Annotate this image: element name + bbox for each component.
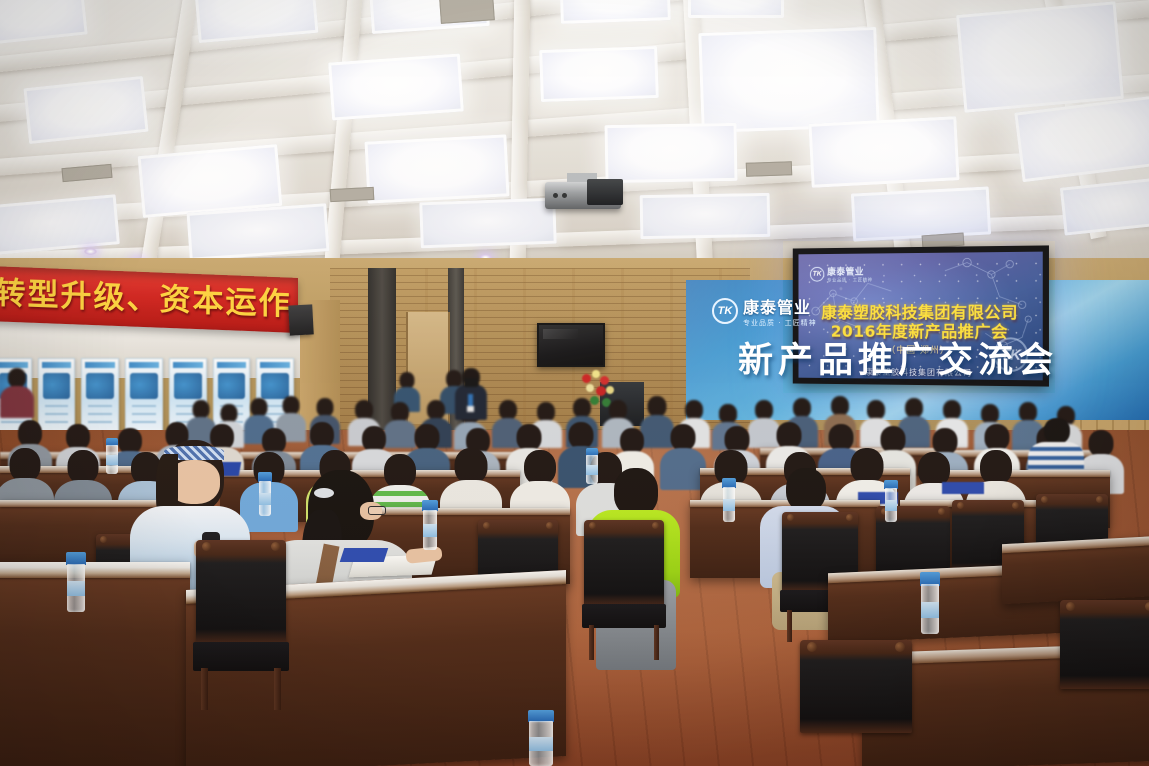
ceiling-light-panel <box>539 46 659 102</box>
tk-logo-icon: TK <box>712 298 738 324</box>
chair[interactable] <box>800 640 912 766</box>
tk-logo-icon: TK <box>810 267 824 282</box>
downlight-icon <box>84 248 97 255</box>
wall-mounted-display <box>537 323 605 367</box>
badge <box>467 406 474 412</box>
water-bottle[interactable] <box>920 572 940 634</box>
foreground-desk-left <box>0 562 190 766</box>
slide-logo-slogan: 专业品质 · 工匠精神 <box>827 277 872 283</box>
air-vent <box>746 161 792 177</box>
ceiling-light-panel <box>0 194 120 255</box>
water-bottle[interactable] <box>722 478 736 522</box>
wall-speaker <box>288 304 314 335</box>
ceiling-projector <box>545 182 621 209</box>
backdrop-logo-slogan: 专业品质 · 工匠精神 <box>743 318 817 328</box>
ceiling-light-panel <box>698 27 879 133</box>
backdrop-headline: 新产品推广交流会 <box>738 332 1138 383</box>
projector-lens <box>553 193 558 198</box>
red-banner-text: 转型升级、资本运作 <box>0 266 298 333</box>
air-vent <box>330 187 375 202</box>
desk-row <box>1002 536 1149 604</box>
ceiling-light-panel <box>328 53 464 120</box>
water-bottle[interactable] <box>66 552 86 612</box>
ceiling-light-panel <box>1014 96 1149 183</box>
ceiling-light-panel <box>605 123 738 183</box>
camera-icon <box>464 378 478 387</box>
chair[interactable] <box>1060 600 1149 720</box>
eyeglasses <box>368 506 386 515</box>
water-bottle[interactable] <box>422 500 438 550</box>
ceiling-light-panel <box>186 203 329 261</box>
hair-clip <box>314 488 334 498</box>
ceiling <box>0 0 1149 272</box>
slide-logo-name: 康泰管业 <box>827 264 872 277</box>
water-bottle[interactable] <box>586 448 598 484</box>
slide-logo: TK 康泰管业 专业品质 · 工匠精神 <box>810 264 873 283</box>
conference-folder <box>340 548 389 562</box>
ceiling-light-panel <box>851 186 991 241</box>
attendee <box>0 368 34 418</box>
slide-title-line1: 康泰塑胶科技集团有限公司 <box>798 303 1042 322</box>
conference-folder <box>942 482 984 494</box>
air-vent <box>61 164 112 182</box>
ceiling-light-panel <box>688 0 784 18</box>
red-slogan-banner: 转型升级、资本运作 <box>0 266 298 333</box>
chair[interactable] <box>584 520 664 660</box>
ceiling-light-panel <box>956 1 1124 113</box>
ceiling-light-panel <box>23 76 148 144</box>
backdrop-logo-name: 康泰管业 <box>743 294 817 318</box>
projector-sensor <box>562 193 567 198</box>
chair[interactable] <box>196 540 286 710</box>
backdrop-logo: TK 康泰管业 专业品质 · 工匠精神 <box>712 294 817 328</box>
ceiling-light-panel <box>808 116 959 188</box>
ceiling-light-panel <box>1060 176 1149 235</box>
photographer <box>455 368 487 420</box>
projector-lens-hood <box>587 179 623 205</box>
water-bottle[interactable] <box>528 710 554 766</box>
water-bottle[interactable] <box>258 472 272 516</box>
ceiling-light-panel <box>559 0 671 24</box>
ceiling-light-panel <box>640 193 771 239</box>
air-vent <box>439 0 495 24</box>
water-bottle[interactable] <box>884 480 898 522</box>
ceiling-light-panel <box>364 134 509 203</box>
conference-room-photo: 转型升级、资本运作 TK 康泰管业 专业品质 · 工匠精神 新产品推广交流会 <box>0 0 1149 766</box>
ceiling-light-panel <box>0 0 88 45</box>
ceiling-light-panel <box>419 198 557 249</box>
water-bottle[interactable] <box>106 438 118 474</box>
